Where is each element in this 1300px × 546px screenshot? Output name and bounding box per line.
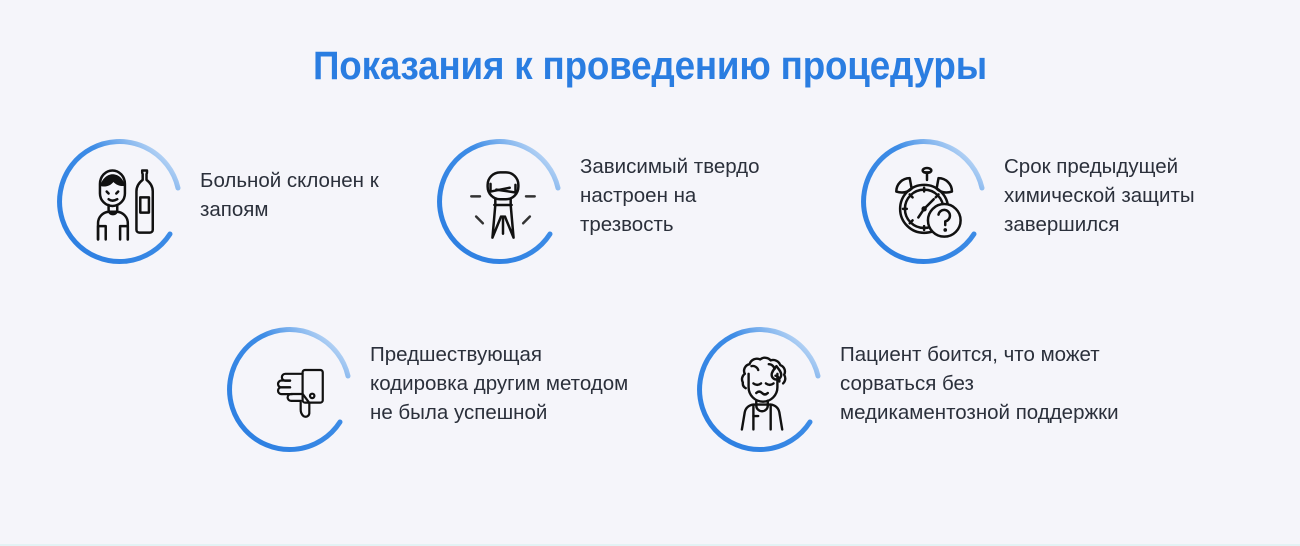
icon-ring-4: [222, 322, 364, 464]
indication-card-2: Зависимый твердо настроен на трезвость: [432, 134, 805, 276]
indication-card-5: Пациент боится, что может сорваться без …: [692, 322, 1200, 464]
indication-card-3: Срок предыдущей химической защиты заверш…: [856, 134, 1249, 276]
icon-ring-3: [856, 134, 998, 276]
infographic-page: Показания к проведению процедуры: [0, 0, 1300, 546]
page-title: Показания к проведению процедуры: [52, 44, 1248, 89]
icon-ring-5: [692, 322, 834, 464]
indication-card-4: Предшествующая кодировка другим методом …: [222, 322, 700, 464]
thumbs-down-icon: [245, 345, 341, 441]
indication-text-5: Пациент боится, что может сорваться без …: [840, 322, 1200, 427]
icon-ring-2: [432, 134, 574, 276]
man-with-bottle-icon: [75, 157, 171, 253]
indication-text-1: Больной склонен к запоям: [200, 134, 435, 224]
determined-person-icon: [455, 157, 551, 253]
worried-person-sweat-icon: [715, 345, 811, 441]
indication-card-1: Больной склонен к запоям: [52, 134, 435, 276]
indication-text-4: Предшествующая кодировка другим методом …: [370, 322, 700, 427]
indication-text-3: Срок предыдущей химической защиты заверш…: [1004, 134, 1249, 239]
alarm-clock-question-icon: [879, 157, 975, 253]
icon-ring-1: [52, 134, 194, 276]
indication-text-2: Зависимый твердо настроен на трезвость: [580, 134, 805, 239]
